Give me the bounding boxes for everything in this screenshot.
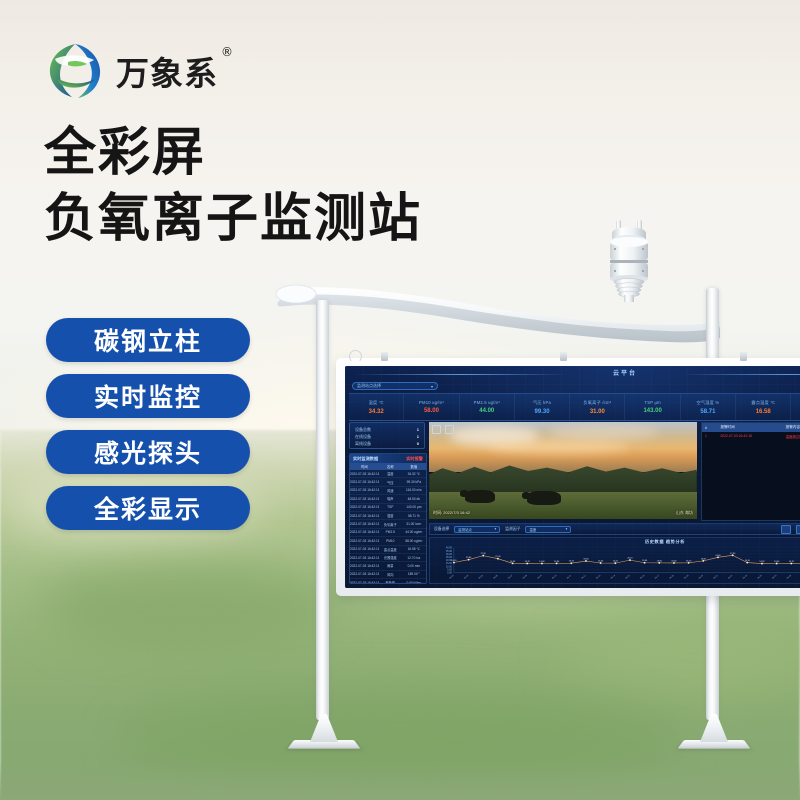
svg-text:10.00: 10.00 (446, 566, 453, 568)
table-header-bar: 实时监测数据 实时报警 (350, 454, 426, 463)
chevron-down-icon: ▾ (431, 384, 433, 389)
table-cell: 2022-07-03 16:42:18 (350, 581, 379, 584)
table-row: 2022-07-03 16:42:18PM1058.00 ug/m³ (350, 537, 426, 545)
stat-value: 1 (417, 434, 419, 439)
table-cell: 2022-07-03 16:42:18 (350, 505, 379, 509)
table-cell: 2022-07-03 16:42:18 (350, 472, 379, 476)
svg-text:15.20: 15.20 (613, 561, 619, 563)
table-cell: 0.00 W/m² (402, 581, 426, 584)
table-cell: 2022-07-03 16:42:18 (350, 556, 379, 560)
table-cell: 负氧离子 (379, 522, 402, 527)
stat-key: 设备总数 (355, 427, 371, 433)
dashboard-title: 云平台 (345, 368, 800, 377)
live-video-feed[interactable]: 时间: 2022/7/3 16:42 山东 潍坊 (429, 422, 697, 519)
headline: 全彩屏 负氧离子监测站 (44, 122, 422, 254)
video-cloud (489, 440, 629, 454)
table-row: 2022-07-03 16:42:18露点温度16.58 ℃ (350, 546, 426, 554)
alarm-col-index: # (705, 426, 720, 430)
svg-text:5.00: 5.00 (447, 569, 452, 571)
table-cell: 气压 (379, 480, 402, 485)
svg-text:40.00: 40.00 (446, 548, 453, 550)
globe-swoosh-logo-icon (44, 40, 106, 102)
metric-label: 气压 kPa (533, 400, 551, 406)
table-row: 2022-07-03 16:42:18光照强度12.70 lux (350, 554, 426, 562)
table-cell: TSP (379, 505, 402, 509)
alarm-col-time: 报警时间 (720, 425, 785, 430)
led-display-screen: 云平台 监测站点选择 ▾ 2022-07-03 16:42:18 管理员 温度 … (345, 366, 800, 588)
table-row: 2022-07-03 16:42:18雨量0.00 mm (350, 562, 426, 570)
feature-badge-list: 碳钢立柱 实时监控 感光探头 全彩显示 (46, 318, 250, 530)
product-poster: 万象系 ® 全彩屏 负氧离子监测站 碳钢立柱 实时监控 感光探头 全彩显示 (0, 0, 800, 800)
feature-badge-realtime-monitoring: 实时监控 (46, 374, 250, 418)
svg-text:18.60: 18.60 (583, 559, 589, 561)
snapshot-icon[interactable] (445, 425, 454, 434)
svg-text:15.80: 15.80 (642, 560, 648, 562)
table-cell: 2022-07-03 16:42:18 (350, 522, 379, 526)
feature-badge-carbon-steel-post: 碳钢立柱 (46, 318, 250, 362)
metric-value: 16.58 (756, 409, 771, 415)
svg-text:06-08: 06-08 (523, 574, 529, 579)
table-cell: PM2.5 (379, 530, 402, 534)
table-row: 2022-07-03 16:42:18PM2.544.00 ug/m³ (350, 529, 426, 537)
left-panel: 设备总数 1 在线设备 1 离线设备 0 实时监测数据 实时报 (349, 422, 425, 584)
svg-text:14.70: 14.70 (789, 561, 795, 563)
metric-value: 58.00 (424, 408, 439, 414)
svg-text:06-18: 06-18 (669, 574, 675, 579)
table-cell: PM10 (379, 539, 402, 543)
stat-row: 设备总数 1 (355, 426, 419, 433)
svg-text:22.40: 22.40 (495, 556, 501, 558)
svg-text:25.00: 25.00 (446, 557, 453, 559)
stat-row: 在线设备 1 (355, 433, 419, 440)
table-cell: 189.00 ° (402, 572, 426, 576)
realtime-data-table: 实时监测数据 实时报警 时间 名称 数值 2022-07-03 16:42:18… (349, 453, 427, 584)
svg-text:14.70: 14.70 (525, 561, 531, 563)
station-select-value: 监测站点选择 (357, 383, 431, 389)
headline-line-2: 负氧离子监测站 (44, 184, 422, 254)
svg-text:06-25: 06-25 (772, 574, 778, 579)
table-title: 实时监测数据 (353, 456, 378, 462)
table-cell: 2022-07-03 16:42:18 (350, 564, 379, 568)
svg-text:06-23: 06-23 (743, 574, 749, 579)
svg-text:06-12: 06-12 (581, 574, 587, 579)
table-cell: 2022-07-03 16:42:18 (350, 547, 379, 551)
mount-bracket (560, 352, 567, 361)
trademark-icon: ® (221, 45, 234, 59)
svg-text:24.60: 24.60 (715, 555, 721, 557)
metric-pressure: 气压 kPa 99.30 (515, 394, 570, 420)
svg-text:06-06: 06-06 (493, 574, 499, 579)
table-cell: 44.00 ug/m³ (402, 530, 426, 534)
svg-text:18.90: 18.90 (701, 558, 707, 560)
table-cell: 风速 (379, 488, 402, 493)
metric-label: 负氧离子 /cm³ (583, 400, 611, 406)
svg-text:06-19: 06-19 (684, 574, 690, 579)
station-select[interactable]: 监测站点选择 ▾ (352, 382, 438, 390)
metric-value: 44.00 (479, 408, 494, 414)
svg-text:15.70: 15.70 (686, 560, 692, 562)
svg-text:20.80: 20.80 (466, 557, 472, 559)
chevron-down-icon: ▾ (566, 527, 568, 531)
alarm-index: 1 (705, 434, 720, 438)
table-cell: 雨量 (379, 563, 402, 568)
svg-text:15.40: 15.40 (598, 561, 604, 563)
svg-text:06-14: 06-14 (611, 574, 617, 579)
table-cell: 116.00 m/s (402, 488, 426, 492)
svg-text:15.60: 15.60 (657, 560, 663, 562)
brand-name-text: 万象系 (116, 54, 218, 93)
bottom-fade (0, 760, 800, 800)
carbon-steel-post-left (316, 300, 329, 720)
table-cell: 噪声 (379, 496, 402, 501)
history-trend-chart: 历史数据 趋势分析 温度 ℃ 40.0035.0030.0025.0020.00… (429, 537, 800, 584)
factor-select-value: 温度 (529, 527, 536, 532)
stat-key: 离线设备 (355, 441, 371, 447)
metric-label: 露点温度 ℃ (751, 400, 775, 406)
alarm-col-content: 报警内容 (786, 425, 800, 430)
svg-text:06-03: 06-03 (449, 574, 455, 579)
svg-text:06-17: 06-17 (655, 574, 661, 579)
table-row: 2022-07-03 16:42:18风向189.00 ° (350, 571, 426, 579)
svg-text:0.00: 0.00 (447, 573, 452, 575)
alarm-badge[interactable]: 实时报警 (406, 456, 423, 462)
svg-text:14.50: 14.50 (759, 561, 765, 563)
column-header-name: 名称 (379, 464, 402, 469)
table-row: 2022-07-03 16:42:18紫外线0.00 W/m² (350, 579, 426, 584)
stat-value: 1 (417, 427, 419, 432)
table-cell: 2022-07-03 16:42:18 (350, 572, 379, 576)
device-select-value: 监测站点 (458, 527, 472, 532)
metric-humidity: 空气湿度 % 58.71 (681, 394, 736, 420)
metric-negative-ion: 负氧离子 /cm³ 31.00 (570, 394, 625, 420)
stat-value: 0 (417, 441, 419, 446)
svg-text:16.20: 16.20 (451, 560, 457, 562)
table-cell: 99.30 kPa (402, 480, 426, 484)
table-row: 2022-07-03 16:42:18湿度58.71 % (350, 512, 426, 520)
headline-line-1: 全彩屏 (44, 122, 422, 184)
metric-label: 空气湿度 % (697, 400, 720, 406)
chart-type-bar-button[interactable] (796, 525, 800, 534)
svg-text:06-15: 06-15 (625, 574, 631, 579)
table-cell: 2022-07-03 16:42:18 (350, 497, 379, 501)
metric-value: 143.00 (643, 408, 661, 414)
stat-key: 在线设备 (355, 434, 371, 440)
table-cell: 48.50 db (402, 497, 426, 501)
table-body: 2022-07-03 16:42:18温度34.32 ℃2022-07-03 1… (350, 470, 426, 584)
svg-text:14.90: 14.90 (510, 561, 516, 563)
column-header-value: 数值 (402, 464, 426, 469)
device-stats-box: 设备总数 1 在线设备 1 离线设备 0 (349, 422, 425, 449)
table-cell: 温度 (379, 471, 402, 476)
metric-label: PM10 ug/m³ (419, 400, 444, 405)
chart-type-line-button[interactable] (781, 525, 791, 534)
dashboard-header: 云平台 (345, 366, 800, 381)
table-row: 2022-07-03 16:42:18风速116.00 m/s (350, 487, 426, 495)
metric-label: PM2.5 ug/m³ (474, 400, 500, 405)
svg-text:15.50: 15.50 (671, 560, 677, 562)
svg-text:16.10: 16.10 (745, 560, 751, 562)
svg-text:06-13: 06-13 (596, 574, 602, 579)
metric-value: 99.30 (535, 409, 550, 415)
metric-value: 58.71 (700, 409, 715, 415)
svg-text:27.90: 27.90 (730, 553, 736, 555)
table-cell: 31.00 /cm³ (402, 522, 426, 526)
svg-text:06-04: 06-04 (464, 574, 470, 579)
svg-text:35.00: 35.00 (446, 551, 453, 553)
brand-logo: 万象系 ® (44, 40, 218, 102)
metrics-strip: 温度 ℃ 34.32 PM10 ug/m³ 58.00 PM2.5 ug/m³ … (349, 393, 800, 421)
metric-label: TSP µm (644, 400, 660, 405)
svg-text:15.10: 15.10 (569, 561, 575, 563)
device-select[interactable]: 监测站点 ▾ (454, 526, 500, 533)
table-cell: 143.00 µm (402, 505, 426, 509)
mount-bracket (740, 352, 747, 361)
cloud-platform-dashboard: 云平台 监测站点选择 ▾ 2022-07-03 16:42:18 管理员 温度 … (345, 366, 800, 588)
table-row: 2022-07-03 16:42:18气压99.30 kPa (350, 478, 426, 486)
table-cell: 0.00 mm (402, 564, 426, 568)
metric-noise: 噪声 db 48.50 (791, 394, 800, 420)
table-cell: 16.58 ℃ (402, 547, 426, 551)
chart-controls-bar: 设备选择 监测站点 ▾ 监测因子 温度 ▾ 2022-06-03 16:42:1… (429, 523, 800, 535)
svg-text:14.60: 14.60 (539, 561, 545, 563)
table-cell: 58.71 % (402, 514, 426, 518)
alarm-content: 温度超过阈值 当前值34.32 上限30.00 (786, 434, 800, 439)
svg-text:06-11: 06-11 (567, 574, 573, 579)
svg-text:06-21: 06-21 (713, 574, 719, 579)
mount-hook-left-icon (349, 350, 362, 363)
table-cell: 光照强度 (379, 555, 402, 560)
svg-text:06-16: 06-16 (640, 574, 646, 579)
svg-text:06-10: 06-10 (552, 574, 558, 579)
metric-tsp: TSP µm 143.00 (625, 394, 680, 420)
table-cell: 2022-07-03 16:42:18 (350, 539, 379, 543)
column-header-time: 时间 (350, 464, 379, 469)
table-row: 2022-07-03 16:42:18温度34.32 ℃ (350, 470, 426, 478)
alarm-time: 2022-07-03 16:42:18 (720, 434, 785, 438)
stat-row: 离线设备 0 (355, 440, 419, 447)
metric-temperature: 温度 ℃ 34.32 (349, 394, 404, 420)
table-cell: 紫外线 (379, 580, 402, 584)
feature-badge-full-color-display: 全彩显示 (46, 486, 250, 530)
svg-text:06-07: 06-07 (508, 574, 514, 579)
grass-blur-patch (40, 560, 340, 650)
table-cell: 12.70 lux (402, 556, 426, 560)
svg-text:06-09: 06-09 (537, 574, 543, 579)
svg-text:14.60: 14.60 (774, 561, 780, 563)
feature-badge-light-sensor: 感光探头 (46, 430, 250, 474)
video-toolbar[interactable] (432, 425, 454, 434)
table-cell: 2022-07-03 16:42:18 (350, 530, 379, 534)
svg-text:27.30: 27.30 (481, 553, 487, 555)
chevron-down-icon: ▾ (494, 527, 496, 531)
table-column-headers: 时间 名称 数值 (350, 463, 426, 470)
video-cattle (527, 491, 561, 505)
ultrasonic-weather-sensor-icon (598, 216, 660, 302)
svg-text:14.80: 14.80 (554, 561, 560, 563)
alarm-log-panel: # 报警时间 报警内容 1 2022-07-03 16:42:18 温度超过阈值… (701, 422, 800, 521)
svg-text:06-20: 06-20 (699, 574, 705, 579)
video-cattle (465, 490, 495, 503)
device-select-label: 设备选择 (434, 527, 449, 532)
table-cell: 34.32 ℃ (402, 472, 426, 476)
table-cell: 露点温度 (379, 547, 402, 552)
video-cattle-head (522, 492, 530, 499)
table-row: 2022-07-03 16:42:18TSP143.00 µm (350, 504, 426, 512)
metric-value: 31.00 (590, 409, 605, 415)
table-cell: 湿度 (379, 513, 402, 518)
metric-value: 34.32 (369, 409, 384, 415)
table-cell: 风向 (379, 572, 402, 577)
table-row: 2022-07-03 16:42:18噪声48.50 db (350, 495, 426, 503)
svg-text:06-22: 06-22 (728, 574, 734, 579)
mount-bracket (381, 352, 388, 361)
svg-text:20.10: 20.10 (627, 558, 633, 560)
video-timestamp: 时间: 2022/7/3 16:42 (433, 510, 470, 516)
table-row: 2022-07-03 16:42:18负氧离子31.00 /cm³ (350, 520, 426, 528)
metric-dew-point: 露点温度 ℃ 16.58 (736, 394, 791, 420)
metric-label: 温度 ℃ (369, 400, 384, 406)
video-watermark: 山东 潍坊 (676, 510, 693, 516)
table-cell: 58.00 ug/m³ (402, 539, 426, 543)
svg-text:15.00: 15.00 (446, 563, 453, 565)
video-cloud (549, 424, 659, 440)
table-cell: 2022-07-03 16:42:18 (350, 488, 379, 492)
svg-text:30.00: 30.00 (446, 554, 453, 556)
metric-pm25: PM2.5 ug/m³ 44.00 (460, 394, 515, 420)
svg-text:06-26: 06-26 (787, 574, 793, 579)
alarm-log-headers: # 报警时间 报警内容 (702, 423, 800, 432)
metric-pm10: PM10 ug/m³ 58.00 (404, 394, 459, 420)
factor-select[interactable]: 温度 ▾ (525, 526, 571, 533)
capture-icon[interactable] (432, 425, 441, 434)
svg-text:06-24: 06-24 (757, 574, 763, 579)
svg-text:06-05: 06-05 (479, 574, 485, 579)
factor-select-label: 监测因子 (505, 527, 520, 532)
chart-plot-area: 40.0035.0030.0025.0020.0015.0010.005.000… (430, 544, 800, 583)
alarm-log-row: 1 2022-07-03 16:42:18 温度超过阈值 当前值34.32 上限… (702, 432, 800, 440)
brand-name: 万象系 ® (116, 47, 218, 95)
table-cell: 2022-07-03 16:42:18 (350, 514, 379, 518)
table-cell: 2022-07-03 16:42:18 (350, 480, 379, 484)
video-cattle-head (460, 490, 468, 497)
